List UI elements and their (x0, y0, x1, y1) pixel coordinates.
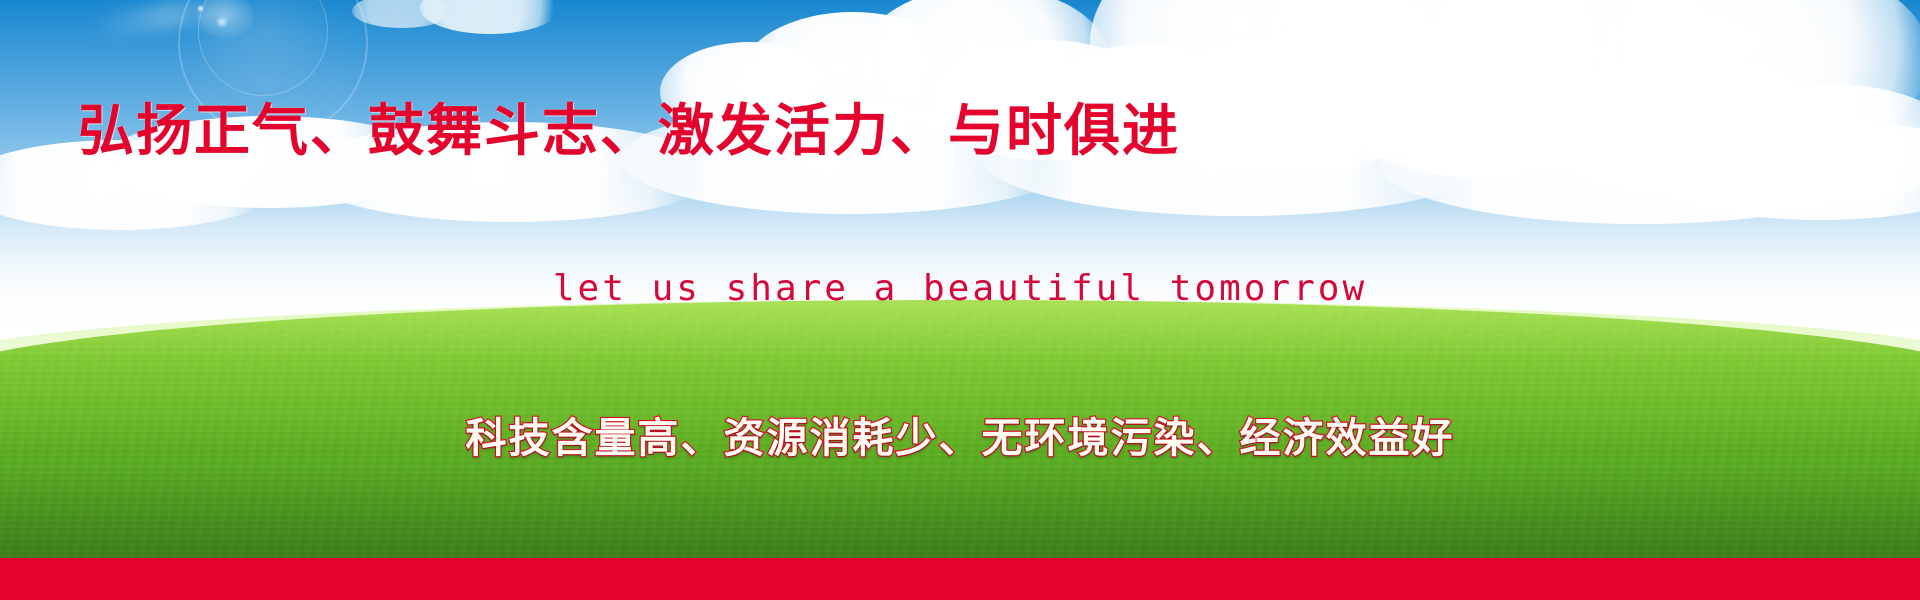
bottom-red-bar (0, 558, 1920, 600)
banner-subline-english: let us share a beautiful tomorrow (0, 268, 1920, 309)
banner-headline: 弘扬正气、鼓舞斗志、激发活力、与时俱进 (78, 86, 1180, 167)
banner: 弘扬正气、鼓舞斗志、激发活力、与时俱进 let us share a beaut… (0, 0, 1920, 600)
banner-tagline: 科技含量高、资源消耗少、无环境污染、经济效益好 (0, 404, 1920, 464)
